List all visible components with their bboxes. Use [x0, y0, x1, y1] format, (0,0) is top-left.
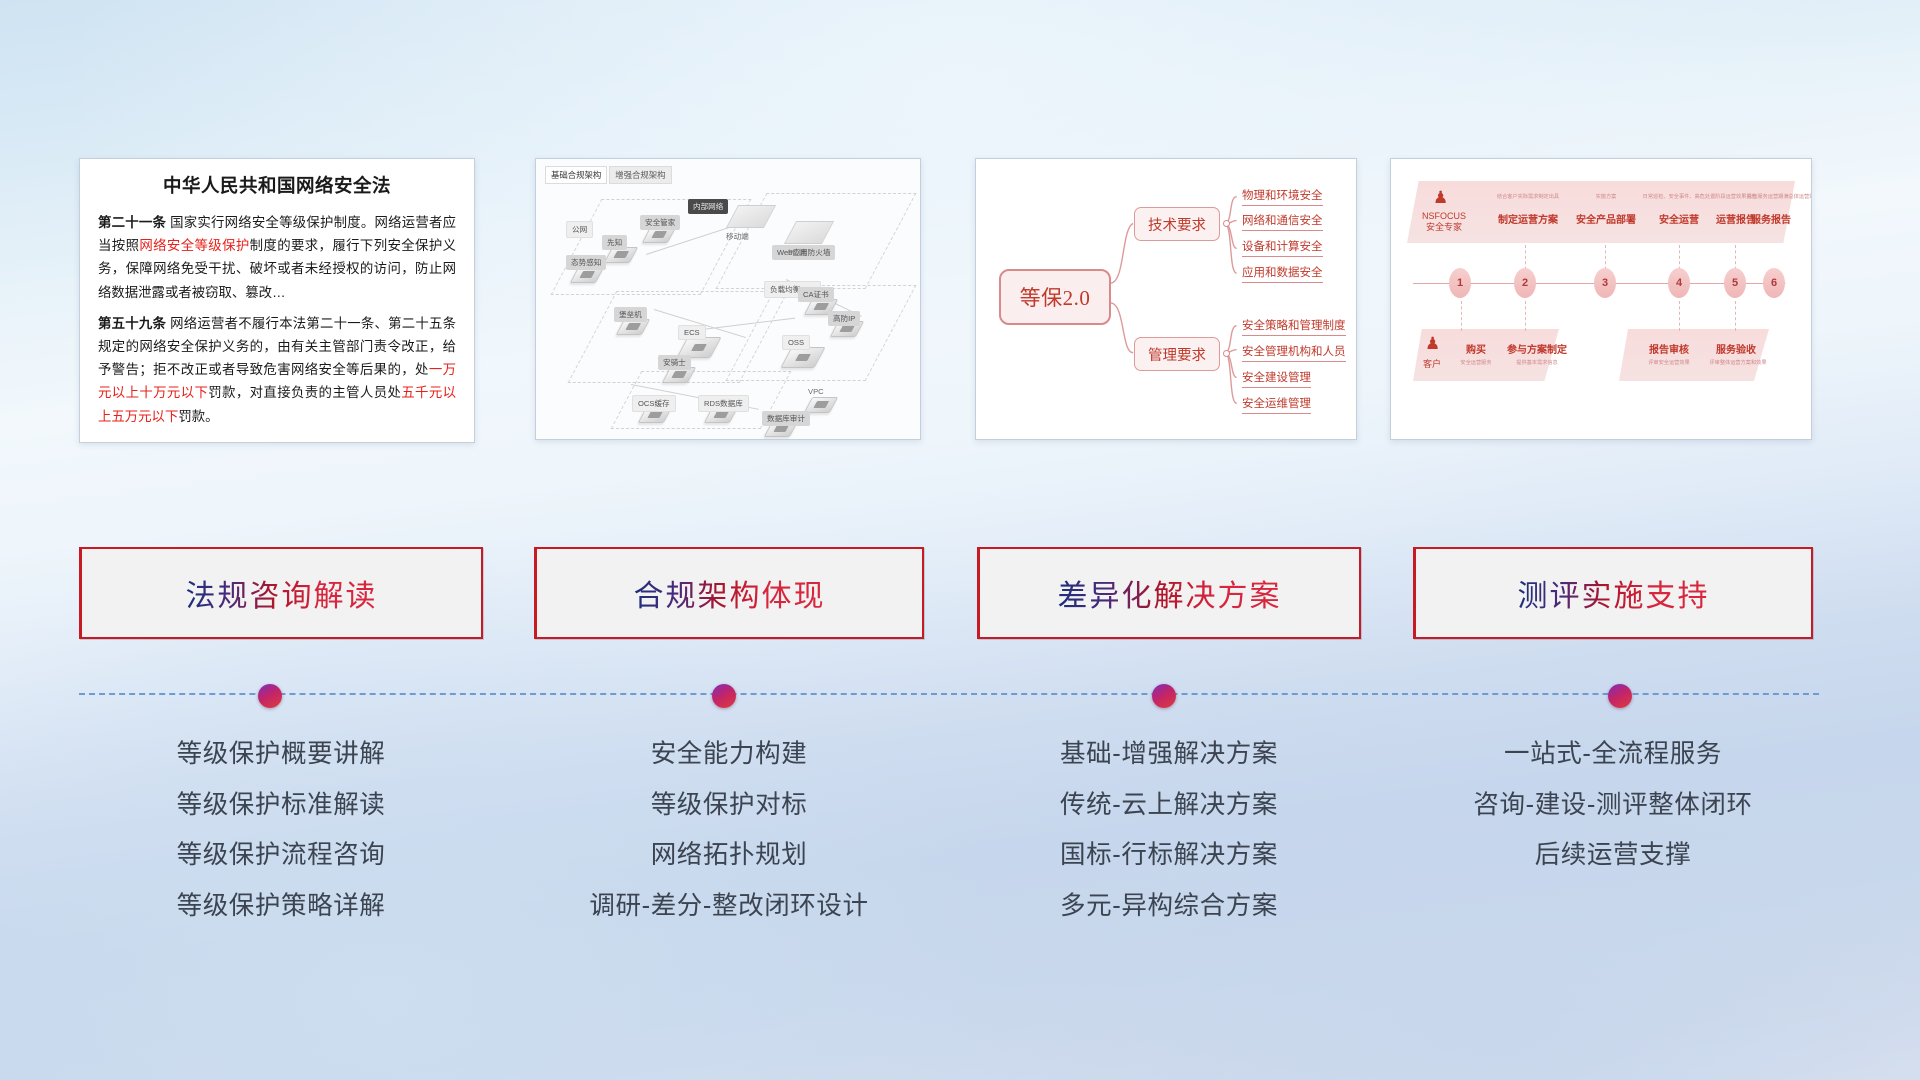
nsfocus-top-sub-5: 总结服务运营期满总体运营效果: [1747, 193, 1795, 200]
label-foresight: 先知: [602, 235, 627, 250]
nsfocus-bottom-left-main-1: 购买: [1455, 341, 1497, 356]
mindmap-leaf-security-management-org-personnel: 安全管理机构和人员: [1242, 343, 1346, 362]
nsfocus-tick-bottom-4: [1735, 301, 1736, 331]
section-heading-label-1: 法规咨询解读: [186, 571, 378, 615]
nsfocus-top-main-5: 服务报告: [1743, 211, 1799, 226]
nsfocus-customer-label: 客户: [1413, 359, 1451, 370]
nsfocus-expert-label: NSFOCUS 安全专家: [1413, 211, 1475, 234]
nsfocus-timeline-diagram: ♟ NSFOCUS 安全专家 结合客户实际需求制定出具 制定运营方案 实施方案 …: [1391, 159, 1811, 439]
nsfocus-step-3[interactable]: 3: [1594, 268, 1616, 298]
mindmap-leaf-network-communication-security: 网络和通信安全: [1242, 212, 1323, 231]
article-59-label: 第五十九条: [98, 316, 166, 331]
nsfocus-bottom-right-sub-2: 评审整体运营方案和效果: [1697, 359, 1779, 366]
label-situational-awareness: 态势感知: [566, 255, 606, 270]
preview-cards-row: 中华人民共和国网络安全法 第二十一条 国家实行网络安全等级保护制度。网络运营者应…: [0, 150, 1920, 442]
nsfocus-expert-line2: 安全专家: [1426, 222, 1462, 232]
list-item: 等级保护策略详解: [177, 894, 386, 945]
law-article-21: 第二十一条 国家实行网络安全等级保护制度。网络运营者应当按照网络安全等级保护制度…: [98, 211, 456, 304]
list-item: 后续运营支撑: [1535, 843, 1692, 894]
bullet-column-1: 等级保护概要讲解 等级保护标准解读 等级保护流程咨询 等级保护策略详解: [79, 742, 483, 944]
timeline-node-2[interactable]: [712, 684, 736, 708]
nsfocus-top-sub-2: 实施方案: [1571, 193, 1641, 200]
list-item: 等级保护标准解读: [177, 793, 386, 844]
list-item: 基础-增强解决方案: [1060, 742, 1278, 793]
list-item: 咨询-建设-测评整体闭环: [1473, 793, 1752, 844]
nsfocus-bottom-left-sub-2: 提供基本需求信息: [1499, 359, 1575, 366]
label-high-defense-ip: 高防IP: [828, 311, 860, 326]
label-rds-database: RDS数据库: [698, 395, 749, 412]
section-heading-box-2[interactable]: 合规架构体现: [534, 547, 924, 639]
label-anqishi: 安骑士: [658, 355, 691, 370]
slide-canvas: 中华人民共和国网络安全法 第二十一条 国家实行网络安全等级保护制度。网络运营者应…: [0, 0, 1920, 1080]
mindmap-leaf-application-data-security: 应用和数据安全: [1242, 264, 1323, 283]
mindmap-diagram: 等保2.0 技术要求 物理和环境安全 网络和通信安全 设备和计算安全 应用和数据…: [976, 159, 1356, 439]
label-ecs: ECS: [678, 325, 706, 340]
card-cybersecurity-law[interactable]: 中华人民共和国网络安全法 第二十一条 国家实行网络安全等级保护制度。网络运营者应…: [79, 158, 475, 443]
nsfocus-step-2[interactable]: 2: [1514, 268, 1536, 298]
mindmap-leaf-device-computing-security: 设备和计算安全: [1242, 238, 1323, 257]
list-item: 等级保护流程咨询: [177, 843, 386, 894]
section-heading-row: 法规咨询解读 合规架构体现 差异化解决方案 测评实施支持: [0, 547, 1920, 639]
mindmap-leaf-security-operations-management: 安全运维管理: [1242, 395, 1311, 414]
list-item: 一站式-全流程服务: [1504, 742, 1722, 793]
list-item: 网络拓扑规划: [651, 843, 808, 894]
section-heading-label-4: 测评实施支持: [1518, 571, 1710, 615]
label-ca-certificate: CA证书: [798, 287, 834, 302]
nsfocus-top-main-3: 安全运营: [1645, 211, 1713, 226]
label-public-network: 公网: [566, 221, 593, 238]
list-item: 国标-行标解决方案: [1060, 843, 1278, 894]
nsfocus-bottom-right-sub-1: 评审安全运营效果: [1631, 359, 1707, 366]
label-pc-device: PC端: [788, 247, 806, 258]
list-item: 传统-云上解决方案: [1060, 793, 1278, 844]
mindmap-expand-dot-technical[interactable]: [1223, 220, 1230, 227]
law-article-59: 第五十九条 网络运营者不履行本法第二十一条、第二十五条规定的网络安全保护义务的，…: [98, 312, 456, 428]
mindmap-leaf-security-policy-management-system: 安全策略和管理制度: [1242, 317, 1346, 336]
person-check-icon: ♟: [1425, 335, 1440, 352]
architecture-diagram: 基础合规架构 增强合规架构: [536, 159, 920, 439]
section-heading-box-1[interactable]: 法规咨询解读: [79, 547, 483, 639]
mindmap-branch-management: 管理要求: [1134, 337, 1220, 371]
bullet-columns-row: 等级保护概要讲解 等级保护标准解读 等级保护流程咨询 等级保护策略详解 安全能力…: [0, 742, 1920, 1022]
label-ocs-cache: OCS缓存: [632, 395, 676, 412]
label-database-audit: 数据库审计: [762, 411, 810, 426]
nsfocus-tick-bottom-3: [1679, 301, 1680, 331]
list-item: 调研-差分-整改闭环设计: [589, 894, 868, 945]
nsfocus-step-6[interactable]: 6: [1763, 268, 1785, 298]
label-security-butler: 安全管家: [640, 215, 680, 230]
list-item: 等级保护对标: [651, 793, 808, 844]
mindmap-leaf-security-construction-management: 安全建设管理: [1242, 369, 1311, 388]
label-mobile-device: 移动端: [726, 231, 749, 242]
list-item: 等级保护概要讲解: [177, 742, 386, 793]
article-21-label: 第二十一条: [98, 215, 166, 230]
timeline-dashed-line: [79, 693, 1819, 695]
mindmap-branch-technical: 技术要求: [1134, 207, 1220, 241]
nsfocus-top-main-1: 制定运营方案: [1487, 211, 1569, 226]
tab-enhanced-architecture[interactable]: 增强合规架构: [609, 166, 671, 184]
nsfocus-bottom-right-main-1: 报告审核: [1639, 341, 1699, 356]
label-oss: OSS: [782, 335, 810, 350]
list-item: 多元-异构综合方案: [1060, 894, 1278, 945]
label-vpc: VPC: [808, 387, 824, 396]
architecture-tabs[interactable]: 基础合规架构 增强合规架构: [545, 166, 672, 184]
card-dengbao-mindmap[interactable]: 等保2.0 技术要求 物理和环境安全 网络和通信安全 设备和计算安全 应用和数据…: [975, 158, 1357, 440]
bullet-column-4: 一站式-全流程服务 咨询-建设-测评整体闭环 后续运营支撑: [1413, 742, 1813, 894]
tab-basic-architecture[interactable]: 基础合规架构: [545, 166, 607, 184]
nsfocus-bottom-left-sub-1: 安全运营服务: [1447, 359, 1505, 366]
nsfocus-step-5[interactable]: 5: [1724, 268, 1746, 298]
article-59-text-3: 罚款。: [178, 409, 218, 424]
person-star-icon: ♟: [1433, 189, 1448, 206]
mindmap-root-node: 等保2.0: [999, 269, 1111, 325]
article-59-text-2: 罚款，对直接负责的主管人员处: [208, 385, 401, 400]
timeline-node-1[interactable]: [258, 684, 282, 708]
nsfocus-top-main-2: 安全产品部署: [1567, 211, 1645, 226]
article-21-highlight: 网络安全等级保护: [139, 238, 249, 253]
section-heading-box-3[interactable]: 差异化解决方案: [977, 547, 1361, 639]
section-heading-box-4[interactable]: 测评实施支持: [1413, 547, 1813, 639]
card-nsfocus-service-timeline[interactable]: ♟ NSFOCUS 安全专家 结合客户实际需求制定出具 制定运营方案 实施方案 …: [1390, 158, 1812, 440]
nsfocus-step-1[interactable]: 1: [1449, 268, 1471, 298]
timeline-node-3[interactable]: [1152, 684, 1176, 708]
section-heading-label-2: 合规架构体现: [634, 571, 826, 615]
bullet-column-3: 基础-增强解决方案 传统-云上解决方案 国标-行标解决方案 多元-异构综合方案: [977, 742, 1361, 944]
mindmap-leaf-physical-environment-security: 物理和环境安全: [1242, 187, 1323, 206]
bullet-column-2: 安全能力构建 等级保护对标 网络拓扑规划 调研-差分-整改闭环设计: [534, 742, 924, 944]
label-internal-network: 内部网络: [688, 199, 728, 214]
nsfocus-top-sub-1: 结合客户实际需求制定出具: [1487, 193, 1569, 200]
nsfocus-expert-line1: NSFOCUS: [1422, 211, 1466, 221]
card-compliance-architecture[interactable]: 基础合规架构 增强合规架构: [535, 158, 921, 440]
timeline-node-4[interactable]: [1608, 684, 1632, 708]
section-heading-label-3: 差异化解决方案: [1058, 571, 1282, 615]
nsfocus-tick-bottom-2: [1525, 301, 1526, 331]
law-title: 中华人民共和国网络安全法: [98, 172, 456, 198]
nsfocus-bottom-right-main-2: 服务验收: [1707, 341, 1765, 356]
label-bastion-host: 堡垒机: [614, 307, 647, 322]
list-item: 安全能力构建: [651, 742, 808, 793]
law-content: 中华人民共和国网络安全法 第二十一条 国家实行网络安全等级保护制度。网络运营者应…: [80, 159, 474, 443]
nsfocus-bottom-left-main-2: 参与方案制定: [1501, 341, 1573, 356]
mindmap-expand-dot-management[interactable]: [1223, 350, 1230, 357]
nsfocus-step-4[interactable]: 4: [1668, 268, 1690, 298]
nsfocus-tick-bottom-1: [1461, 301, 1462, 331]
